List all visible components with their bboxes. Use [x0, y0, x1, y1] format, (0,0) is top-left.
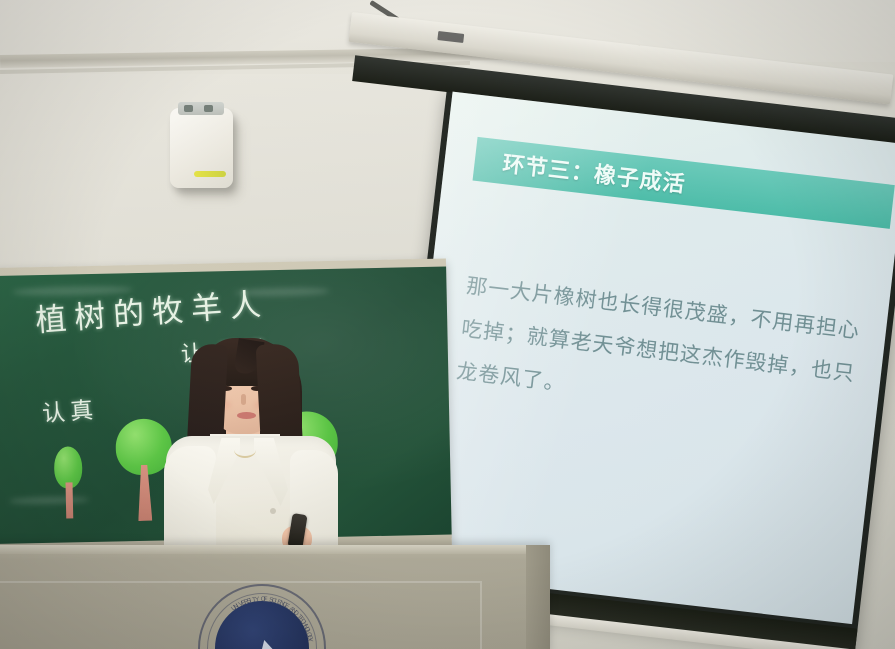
- slide-header-title: 环节三：橡子成活: [473, 143, 687, 199]
- necklace: [234, 442, 256, 458]
- speaker-label-sticker: [194, 171, 226, 177]
- presenter: [150, 330, 350, 560]
- speaker-bracket-icon: [178, 102, 224, 115]
- classroom-photo: 环节三：橡子成活 那一大片橡树也长得很茂盛，不用再担心 吃掉；就算老天爷想把这杰…: [0, 0, 895, 649]
- paper-tree-small: [54, 446, 86, 519]
- podium-top-edge: [0, 545, 550, 554]
- slide-body-text: 那一大片橡树也长得很茂盛，不用再担心 吃掉；就算老天爷想把这杰作毁掉，也只 龙卷…: [454, 265, 895, 444]
- nose: [241, 394, 246, 405]
- blazer-sleeve-left: [164, 446, 216, 556]
- roller-badge: [437, 31, 464, 43]
- podium-side: [526, 545, 550, 649]
- mouth: [237, 412, 256, 419]
- slide-header-bar: 环节三：橡子成活: [473, 137, 895, 229]
- blazer-button: [270, 508, 276, 514]
- wall-mounted-speaker: [170, 108, 233, 188]
- university-emblem: UNIVERSITY OF SCIENCE AND TECHNOLOGY: [198, 584, 326, 649]
- blackboard-keyword: 认真: [41, 390, 99, 428]
